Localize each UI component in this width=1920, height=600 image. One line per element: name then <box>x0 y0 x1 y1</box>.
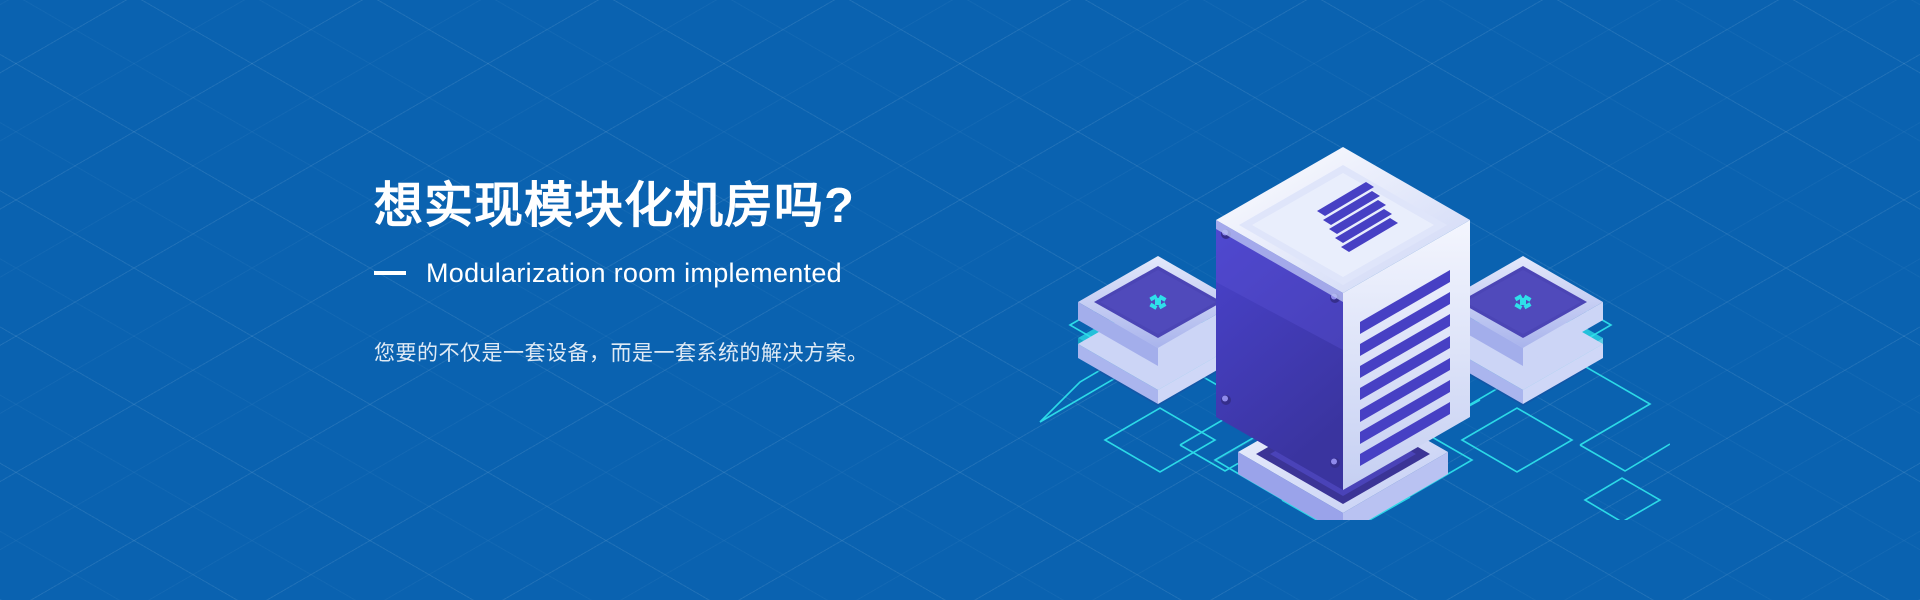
hero-copy-block: 想实现模块化机房吗? Modularization room implement… <box>374 178 1094 388</box>
hero-banner: 想实现模块化机房吗? Modularization room implement… <box>0 0 1920 600</box>
chip-module-left <box>1078 256 1238 404</box>
subtitle-dash-icon <box>374 271 406 275</box>
server-tower <box>1216 147 1470 520</box>
page-subtitle: Modularization room implemented <box>426 258 842 289</box>
isometric-server-illustration <box>1010 70 1670 520</box>
hero-body-text: 您要的不仅是一套设备，而是一套系统的解决方案。 <box>374 337 1094 367</box>
page-title: 想实现模块化机房吗? <box>374 178 1094 236</box>
subtitle-row: Modularization room implemented <box>374 258 1094 289</box>
